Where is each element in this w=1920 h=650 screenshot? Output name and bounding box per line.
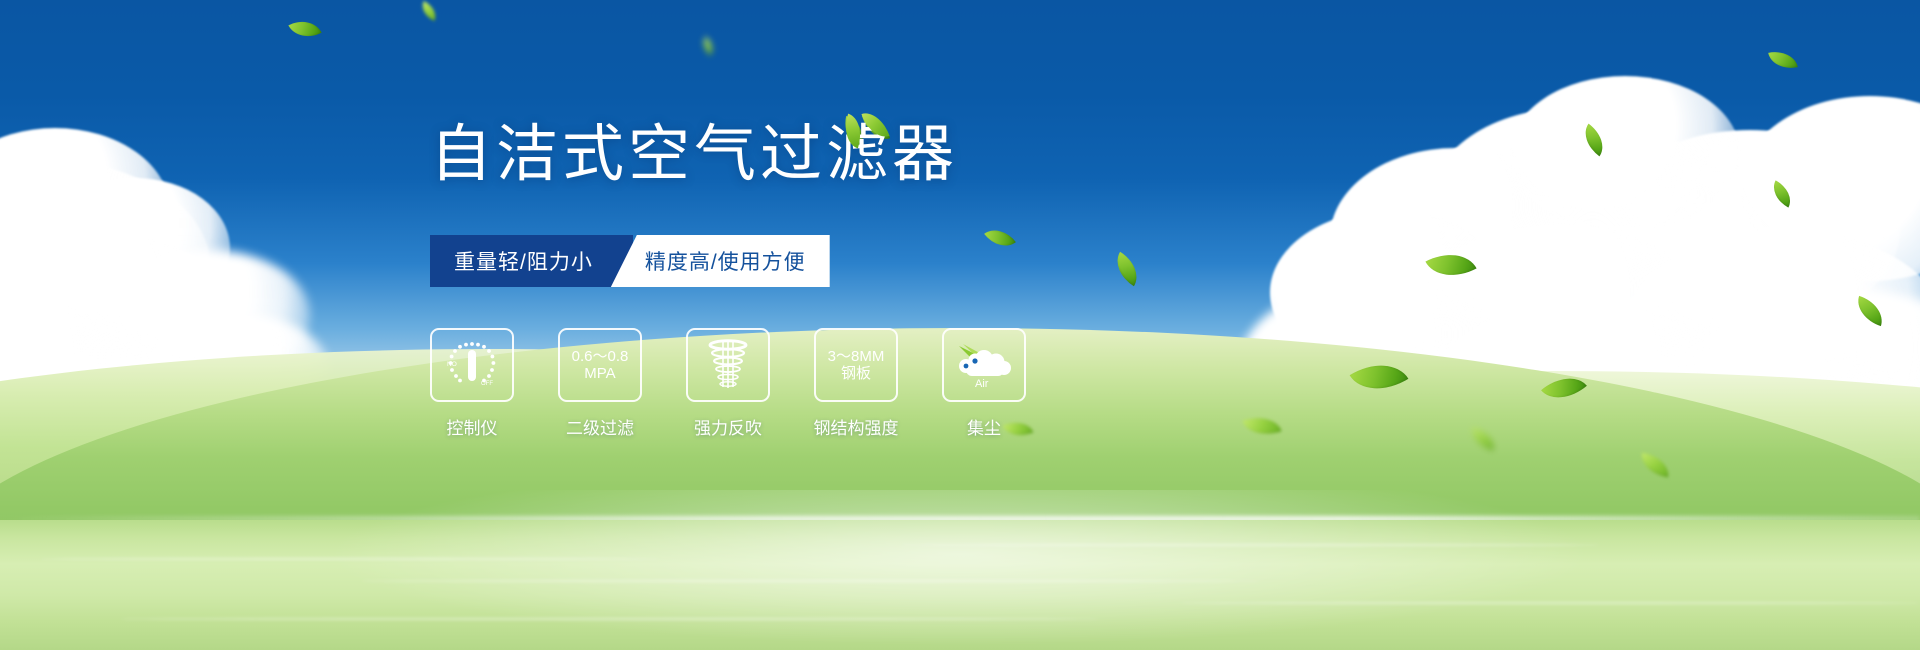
feature-icon-box <box>686 328 770 402</box>
feature-label: 钢结构强度 <box>814 414 899 439</box>
feature-label: 二级过滤 <box>566 414 634 439</box>
subtitle-text-left: 重量轻/阻力小 <box>454 246 593 276</box>
air-text-label: Air <box>975 378 989 390</box>
feature-item-steel-strength[interactable]: 3～8MM 钢板 钢结构强度 <box>814 328 898 439</box>
gauge-off-label: OFF <box>481 381 493 387</box>
pressure-value-icon: 0.6～0.8 <box>572 348 629 365</box>
feature-icon-box: 3～8MM 钢板 <box>814 328 898 402</box>
subtitle-badge-secondary: 精度高/使用方便 <box>611 235 830 287</box>
pressure-unit-label: MPA <box>584 365 615 382</box>
subtitle-badge-primary: 重量轻/阻力小 <box>430 235 633 287</box>
feature-item-dust-collection[interactable]: Air 集尘 <box>942 328 1026 439</box>
feature-icon-box: Air <box>942 328 1026 402</box>
feature-item-two-stage-filter[interactable]: 0.6～0.8 MPA 二级过滤 <box>558 328 642 439</box>
gauge-dial-icon: NO OFF <box>444 339 500 391</box>
feature-icon-box: 0.6～0.8 MPA <box>558 328 642 402</box>
subtitle-banner: 重量轻/阻力小 精度高/使用方便 <box>430 235 830 287</box>
feature-item-strong-blowback[interactable]: 强力反吹 <box>686 328 770 439</box>
feature-icon-row: NO OFF 控制仪 0.6～0.8 MPA 二级过滤 <box>430 328 1026 439</box>
coil-blowback-icon <box>703 338 753 392</box>
feature-label: 控制仪 <box>447 414 498 439</box>
feature-label: 集尘 <box>967 414 1001 439</box>
subtitle-text-right: 精度高/使用方便 <box>645 246 806 276</box>
steel-plate-label: 钢板 <box>841 365 871 382</box>
feature-item-control-gauge[interactable]: NO OFF 控制仪 <box>430 328 514 439</box>
air-cloud-icon: Air <box>953 340 1015 390</box>
steel-plate-icon: 3～8MM <box>828 348 885 365</box>
product-hero-banner: 自洁式空气过滤器 重量轻/阻力小 精度高/使用方便 <box>0 0 1920 650</box>
feature-icon-box: NO OFF <box>430 328 514 402</box>
feature-label: 强力反吹 <box>694 414 762 439</box>
gauge-on-label: NO <box>447 361 457 368</box>
